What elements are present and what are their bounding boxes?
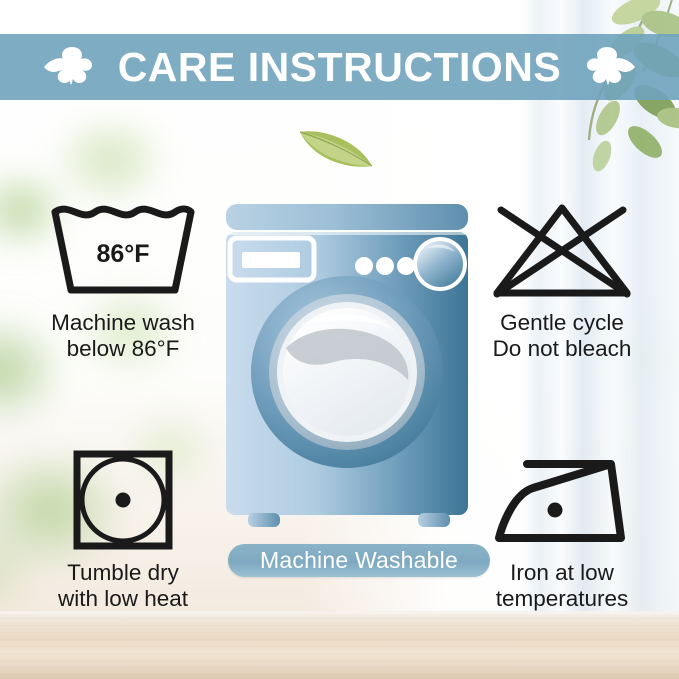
wash-temperature-value: 86°F xyxy=(47,240,199,269)
tumble-dry-one-dot-icon-wrap xyxy=(18,446,228,554)
care-symbol-machine-wash: 86°F Machine wash below 86°F xyxy=(18,196,228,363)
machine-washable-badge: Machine Washable xyxy=(228,544,490,577)
washer-feet xyxy=(248,513,450,527)
care-symbol-do-not-bleach: Gentle cycle Do not bleach xyxy=(452,196,672,363)
care-symbol-caption: Machine wash below 86°F xyxy=(18,310,228,363)
washer-door xyxy=(251,276,443,468)
care-instructions-graphic: CARE INSTRUCTIONS 86°F Machine wash belo… xyxy=(0,0,679,679)
care-symbol-tumble-dry: Tumble dry with low heat xyxy=(18,446,228,613)
header-banner: CARE INSTRUCTIONS xyxy=(0,34,679,100)
floating-leaf-icon xyxy=(296,122,376,174)
page-title: CARE INSTRUCTIONS xyxy=(118,47,562,88)
badge-label: Machine Washable xyxy=(260,549,458,572)
washing-machine-icon xyxy=(222,202,472,537)
triangle-crossed-icon-wrap xyxy=(452,196,672,304)
iron-one-dot-icon xyxy=(489,450,635,550)
tumble-dry-one-dot-icon xyxy=(71,448,175,552)
care-symbol-iron-low: Iron at low temperatures xyxy=(452,446,672,613)
fleur-de-lis-icon xyxy=(42,45,100,89)
care-symbol-caption: Tumble dry with low heat xyxy=(18,560,228,613)
triangle-crossed-icon xyxy=(487,198,637,302)
dial-knob-icon xyxy=(413,237,467,291)
indicator-lights xyxy=(355,257,415,275)
table-wood-grain xyxy=(0,611,679,679)
iron-one-dot-icon-wrap xyxy=(452,446,672,554)
care-symbol-caption: Gentle cycle Do not bleach xyxy=(452,310,672,363)
wash-tub-icon-wrap: 86°F xyxy=(18,196,228,304)
fleur-de-lis-icon xyxy=(579,45,637,89)
